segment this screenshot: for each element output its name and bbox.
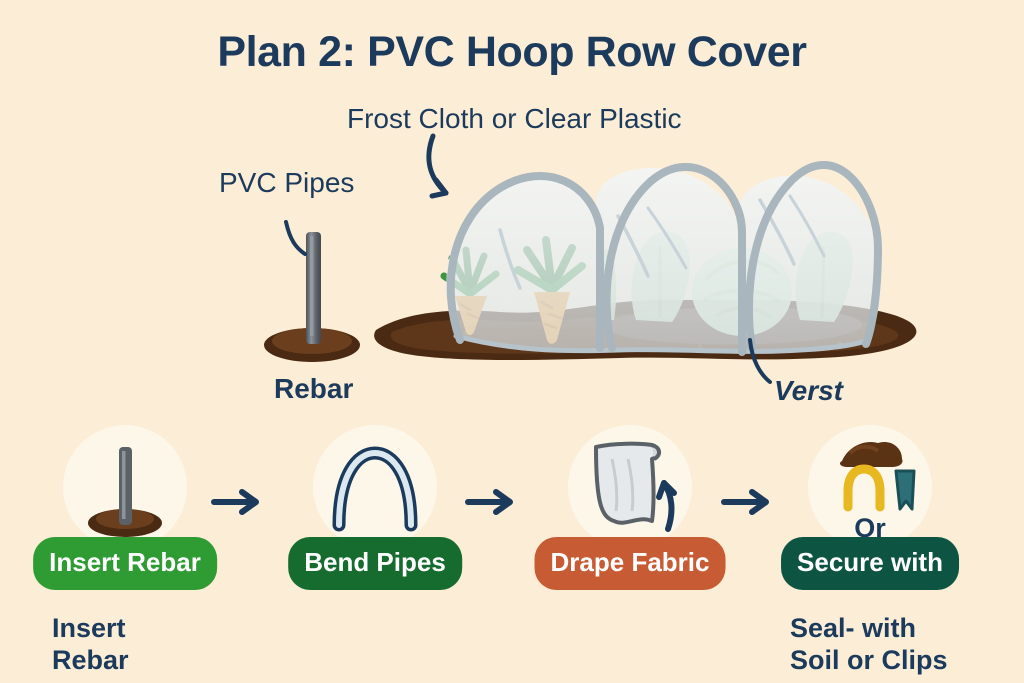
soil-bed-shape <box>374 300 916 360</box>
infographic-page: Plan 2: PVC Hoop Row Cover <box>0 0 1024 683</box>
step-1-badge[interactable]: Insert Rebar <box>33 537 217 590</box>
draped-fabric-icon <box>568 425 692 549</box>
leafy-green-2 <box>796 232 853 322</box>
hoop-2 <box>607 167 742 352</box>
callout-verst: Verst <box>774 375 843 407</box>
step-4-icon-circle: Or <box>808 425 932 549</box>
step-4-caption: Seal- with Soil or Clips <box>790 613 948 677</box>
soil-under-cover <box>608 307 862 344</box>
plastic-cover <box>446 168 881 351</box>
step-secure-with[interactable]: Or Secure with Seal- with Soil or Clips <box>775 425 965 549</box>
carrot-plant-2 <box>518 240 582 344</box>
step-1-icon-circle <box>63 425 187 549</box>
step-3-badge[interactable]: Drape Fabric <box>535 537 726 590</box>
step-2-badge-label: Bend Pipes <box>304 547 446 577</box>
carrot-plant-1 <box>444 250 496 335</box>
step-1-caption: Insert Rebar <box>52 613 129 677</box>
hoop-1 <box>451 176 600 348</box>
page-title: Plan 2: PVC Hoop Row Cover <box>0 28 1024 77</box>
pvc-hoop-arch-icon <box>313 425 437 549</box>
step-insert-rebar[interactable]: Insert Rebar Insert Rebar <box>30 425 220 549</box>
step-3-badge-label: Drape Fabric <box>551 547 710 577</box>
steps-row: Insert Rebar Insert Rebar Bend Pipes <box>0 425 1024 625</box>
step-drape-fabric[interactable]: Drape Fabric <box>535 425 725 549</box>
step-3-icon-circle <box>568 425 692 549</box>
callout-pvc-pipes: PVC Pipes <box>219 167 354 199</box>
rebar-in-soil-icon <box>63 425 187 549</box>
pvc-pipes-leader <box>286 222 305 254</box>
frost-cloth-leader <box>429 136 446 193</box>
callout-leaders <box>286 136 770 382</box>
rebar-stake-illustration <box>264 232 360 362</box>
step-4-badge-label: Secure with <box>797 547 943 577</box>
step-1-badge-label: Insert Rebar <box>49 547 201 577</box>
arrow-right-icon-3 <box>718 487 778 517</box>
pvc-hoops <box>451 165 878 352</box>
leafy-green-1 <box>632 231 690 322</box>
step-2-badge[interactable]: Bend Pipes <box>288 537 462 590</box>
arrow-right-icon-2 <box>462 487 522 517</box>
cabbage <box>692 248 792 336</box>
plants-under-cover <box>598 231 853 336</box>
callout-frost-cloth: Frost Cloth or Clear Plastic <box>347 103 682 135</box>
step-4-or-label: Or <box>854 513 886 544</box>
verst-leader <box>750 340 770 382</box>
callout-rebar: Rebar <box>274 373 353 405</box>
step-4-badge[interactable]: Secure with <box>781 537 959 590</box>
step-bend-pipes[interactable]: Bend Pipes <box>280 425 470 549</box>
arrow-right-icon-1 <box>208 487 268 517</box>
step-2-icon-circle <box>313 425 437 549</box>
frost-cloth-arrowhead <box>432 180 446 196</box>
hoop-3 <box>749 165 878 348</box>
